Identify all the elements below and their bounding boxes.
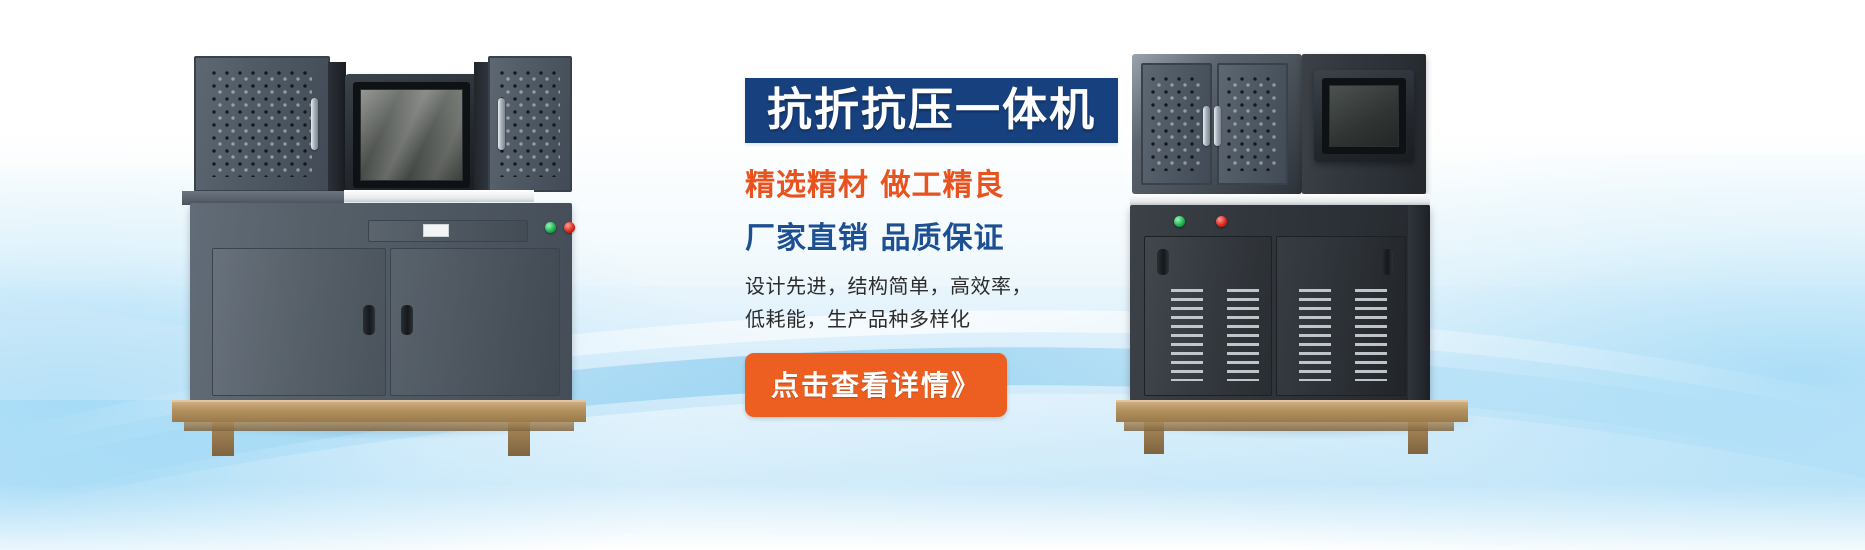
ventilation-louvers xyxy=(1355,289,1387,381)
monitor-screen xyxy=(360,89,463,181)
monitor-bezel xyxy=(1322,78,1406,154)
power-indicator-led xyxy=(545,222,556,233)
cabinet-handle-icon xyxy=(363,305,375,335)
description-line-1: 设计先进，结构简单，高效率， xyxy=(745,271,1215,302)
left-display-monitor xyxy=(345,74,478,196)
product-image-left xyxy=(168,48,588,433)
door-handle-icon xyxy=(1214,106,1221,146)
promotional-banner: 抗折抗压一体机 精选精材 做工精良 厂家直销 品质保证 设计先进，结构简单，高效… xyxy=(0,0,1865,550)
door-handle-icon xyxy=(498,98,505,150)
right-cabinet-door xyxy=(390,248,560,396)
right-machine-side-flank xyxy=(1408,205,1430,401)
wooden-pallet xyxy=(172,400,586,422)
stop-indicator-led xyxy=(1216,216,1227,227)
perforation-pattern xyxy=(1227,77,1278,171)
left-door-side-panel xyxy=(328,62,346,192)
left-machine-right-perforated-door xyxy=(488,56,572,192)
cabinet-handle-icon xyxy=(1381,249,1393,275)
description-line-2: 低耗能，生产品种多样化 xyxy=(745,304,1215,335)
right-louvered-cabinet-door xyxy=(1276,236,1406,396)
subtitle-orange: 精选精材 做工精良 xyxy=(745,160,1215,204)
left-upper-perforated-door xyxy=(194,56,330,192)
banner-title-band: 抗折抗压一体机 xyxy=(745,78,1118,143)
cabinet-handle-icon xyxy=(401,305,413,335)
drawer-label-plate xyxy=(423,224,449,237)
stop-indicator-led xyxy=(564,222,575,233)
right-display-monitor xyxy=(1314,70,1414,162)
cta-button-label: 点击查看详情》 xyxy=(771,369,981,402)
pallet-bottom-board xyxy=(1124,422,1454,431)
left-cabinet-door xyxy=(212,248,386,396)
banner-copy-block: 抗折抗压一体机 精选精材 做工精良 厂家直销 品质保证 设计先进，结构简单，高效… xyxy=(745,78,1215,417)
perforation-pattern xyxy=(212,71,312,177)
page-title: 抗折抗压一体机 xyxy=(767,87,1096,132)
ventilation-louvers xyxy=(1227,289,1259,381)
ventilation-louvers xyxy=(1299,289,1331,381)
perforation-pattern xyxy=(500,71,561,177)
door-handle-icon xyxy=(311,98,318,150)
cta-button[interactable]: 点击查看详情》 xyxy=(745,353,1007,417)
monitor-base-strip xyxy=(344,190,534,202)
top-perforated-door-right xyxy=(1217,63,1288,185)
subtitle-blue: 厂家直销 品质保证 xyxy=(745,213,1215,257)
pallet-bottom-board xyxy=(184,422,574,431)
monitor-bezel xyxy=(353,82,470,188)
monitor-screen xyxy=(1329,85,1399,147)
